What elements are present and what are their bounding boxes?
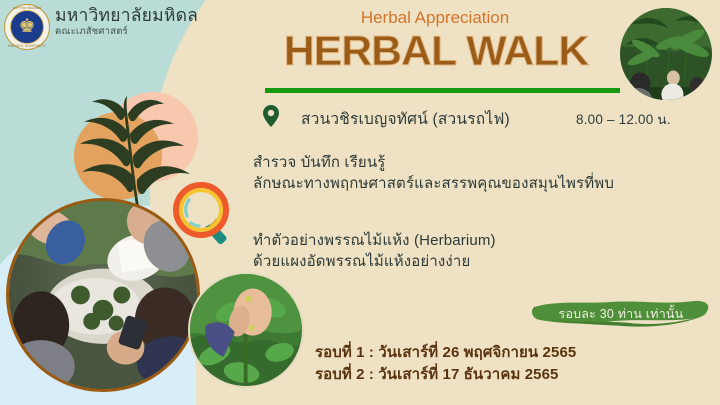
seal-emblem-icon: ♚ — [11, 17, 43, 36]
session-dates: รอบที่ 1 : วันเสาร์ที่ 26 พฤศจิกายน 2565… — [315, 342, 576, 386]
faculty-name: คณะเภสัชศาสตร์ — [55, 26, 198, 37]
session-date-1: รอบที่ 1 : วันเสาร์ที่ 26 พฤศจิกายน 2565 — [315, 342, 576, 364]
capacity-badge: รอบละ 30 ท่าน เท่านั้น — [530, 298, 712, 328]
time-text: 8.00 – 12.00 น. — [576, 108, 671, 130]
description-line-4: ด้วยแผงอัดพรรณไม้แห้งอย่างง่าย — [253, 251, 496, 272]
location-text: สวนวชิรเบญจทัศน์ (สวนรถไฟ) — [301, 106, 510, 131]
field-study-people-photo — [6, 198, 200, 392]
seal-inner-disc: ♚ — [10, 10, 44, 44]
location-row: สวนวชิรเบญจทัศน์ (สวนรถไฟ) 8.00 – 12.00 … — [263, 104, 683, 130]
description-line-3: ทำตัวอย่างพรรณไม้แห้ง (Herbarium) — [253, 230, 496, 251]
university-name: มหาวิทยาลัยมหิดล — [55, 6, 198, 24]
university-name-block: มหาวิทยาลัยมหิดล คณะเภสัชศาสตร์ — [55, 6, 198, 38]
event-title: HERBAL WALK — [246, 30, 625, 72]
location-pin-icon — [263, 105, 279, 127]
description-paragraph-1: สำรวจ บันทึก เรียนรู้ ลักษณะทางพฤกษศาสตร… — [253, 152, 614, 195]
description-line-2: ลักษณะทางพฤกษศาสตร์และสรรพคุณของสมุนไพรท… — [253, 173, 614, 194]
poster-canvas: มหาวิทยาลัยมหิดล MAHIDOL UNIVERSITY ♚ มห… — [0, 0, 720, 405]
garden-group-photo — [620, 8, 712, 100]
session-date-2: รอบที่ 2 : วันเสาร์ที่ 17 ธันวาคม 2565 — [315, 364, 576, 386]
capacity-badge-label: รอบละ 30 ท่าน เท่านั้น — [530, 304, 712, 324]
description-paragraph-2: ทำตัวอย่างพรรณไม้แห้ง (Herbarium) ด้วยแผ… — [253, 230, 496, 273]
green-divider — [265, 88, 620, 93]
event-title-text: HERBAL WALK — [284, 30, 589, 72]
mahidol-university-seal: มหาวิทยาลัยมหิดล MAHIDOL UNIVERSITY ♚ — [4, 4, 50, 50]
event-subtitle: Herbal Appreciation — [250, 8, 620, 28]
magnifying-glass-icon — [172, 182, 238, 246]
description-line-1: สำรวจ บันทึก เรียนรู้ — [253, 152, 614, 173]
subtitle-wrapper: Herbal Appreciation — [250, 8, 620, 28]
hand-holding-plant-photo — [188, 272, 304, 388]
